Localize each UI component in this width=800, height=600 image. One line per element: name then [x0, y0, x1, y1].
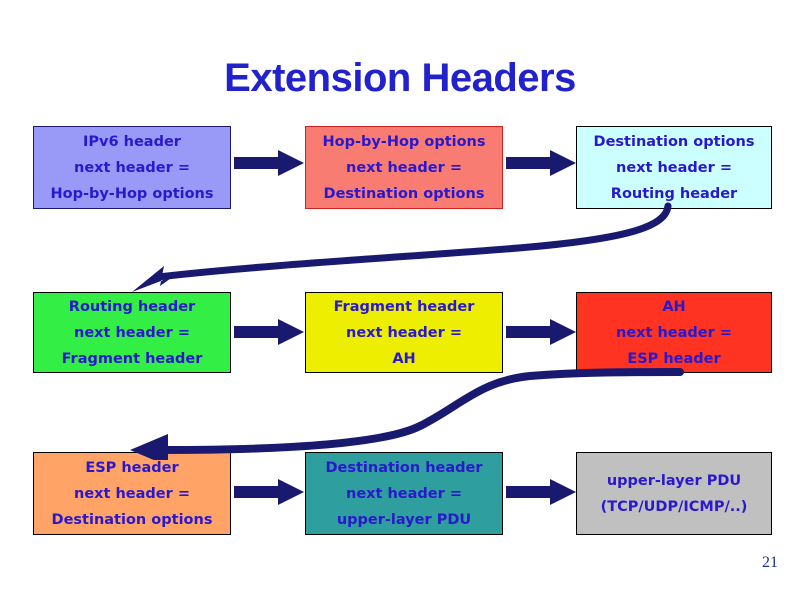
curved-arrow-icon: [110, 200, 690, 300]
box-line: ESP header: [38, 455, 226, 481]
right-arrow-icon: [506, 149, 576, 177]
box-line: (TCP/UDP/ICMP/..): [581, 494, 767, 520]
right-arrow-icon: [234, 478, 304, 506]
header-box-upper-layer-pdu: upper-layer PDU (TCP/UDP/ICMP/..): [576, 452, 772, 535]
box-line: next header =: [310, 481, 498, 507]
header-box-fragment-header: Fragment header next header = AH: [305, 292, 503, 373]
box-line: Destination options: [38, 507, 226, 533]
box-line: next header =: [38, 155, 226, 181]
header-box-esp-header: ESP header next header = Destination opt…: [33, 452, 231, 535]
box-line: Fragment header: [310, 294, 498, 320]
box-line: next header =: [38, 481, 226, 507]
box-line: IPv6 header: [38, 129, 226, 155]
slide-canvas: Extension Headers IPv6 header next heade…: [0, 0, 800, 600]
box-line: Hop-by-Hop options: [310, 129, 498, 155]
box-line: next header =: [310, 155, 498, 181]
box-line: Routing header: [38, 294, 226, 320]
header-box-routing-header: Routing header next header = Fragment he…: [33, 292, 231, 373]
box-line: Fragment header: [38, 346, 226, 372]
box-line: Destination options: [581, 129, 767, 155]
header-box-destination-header: Destination header next header = upper-l…: [305, 452, 503, 535]
box-line: AH: [581, 294, 767, 320]
header-box-ipv6-header: IPv6 header next header = Hop-by-Hop opt…: [33, 126, 231, 209]
box-line: next header =: [581, 320, 767, 346]
box-line: AH: [310, 346, 498, 372]
box-line: next header =: [310, 320, 498, 346]
page-number: 21: [762, 554, 778, 572]
box-line: ESP header: [581, 346, 767, 372]
right-arrow-icon: [506, 478, 576, 506]
right-arrow-icon: [234, 318, 304, 346]
box-line: upper-layer PDU: [581, 468, 767, 494]
header-box-destination-options: Destination options next header = Routin…: [576, 126, 772, 209]
box-line: next header =: [581, 155, 767, 181]
right-arrow-icon: [234, 149, 304, 177]
box-line: upper-layer PDU: [310, 507, 498, 533]
box-line: next header =: [38, 320, 226, 346]
box-line: Hop-by-Hop options: [38, 181, 226, 207]
box-line: Routing header: [581, 181, 767, 207]
box-line: Destination options: [310, 181, 498, 207]
header-box-hop-by-hop-options: Hop-by-Hop options next header = Destina…: [305, 126, 503, 209]
header-box-ah-header: AH next header = ESP header: [576, 292, 772, 373]
right-arrow-icon: [506, 318, 576, 346]
page-title: Extension Headers: [0, 54, 800, 102]
box-line: Destination header: [310, 455, 498, 481]
curved-arrow-icon: [110, 362, 690, 460]
